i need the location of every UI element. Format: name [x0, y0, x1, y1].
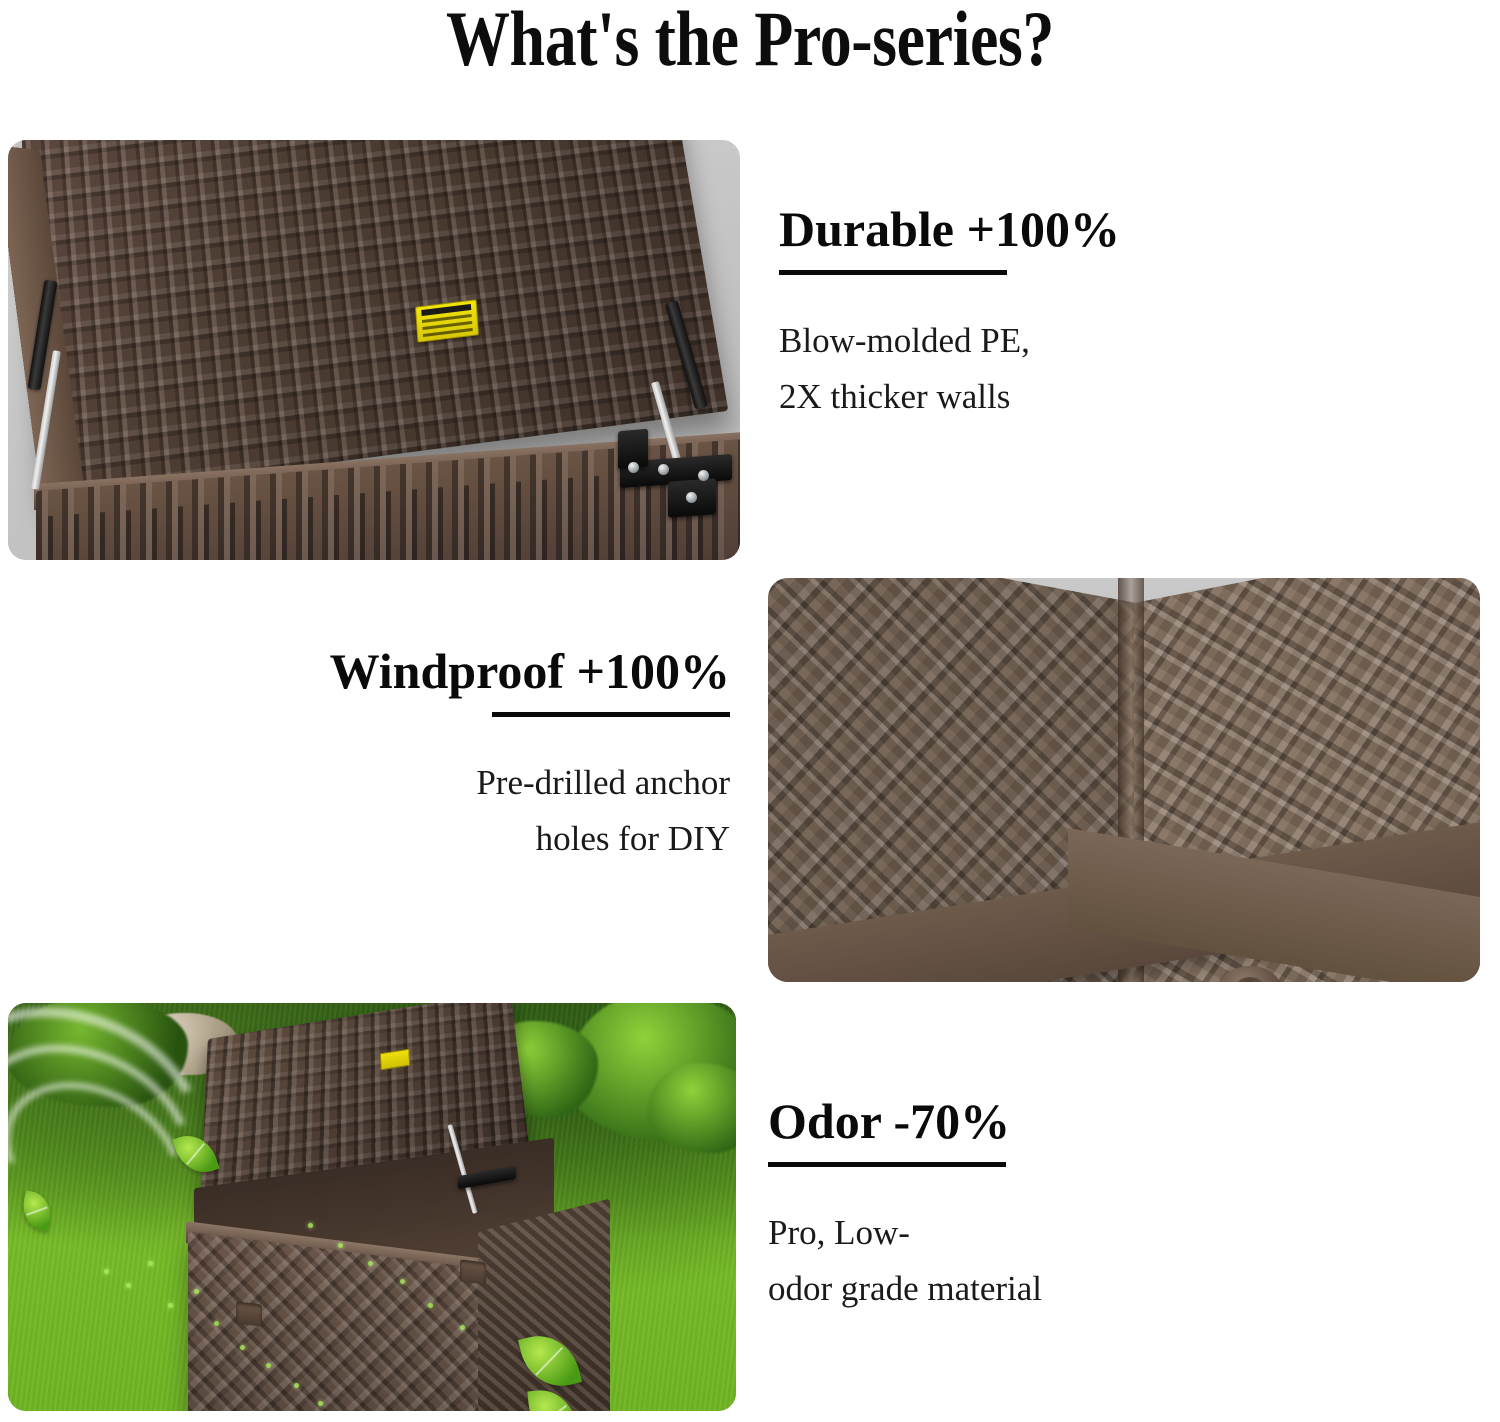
feature-odor-body: Pro, Low- odor grade material [768, 1205, 1288, 1318]
feature-odor-body-line1: Pro, Low- [768, 1205, 1288, 1262]
hinge-bolt [628, 462, 639, 473]
feature-windproof-text: Windproof +100% Pre-drilled anchor holes… [238, 645, 730, 868]
feature-durable-underline [779, 270, 1007, 275]
feature-odor-underline [768, 1162, 1006, 1167]
feature-windproof-underline [492, 712, 730, 717]
feature-durable-body-line2: 2X thicker walls [779, 369, 1299, 426]
open-deck-box-lid-photo [8, 140, 740, 560]
feature-odor-body-line2: odor grade material [768, 1261, 1288, 1318]
side-handle [460, 1259, 486, 1284]
feature-windproof-headline: Windproof +100% [238, 645, 730, 698]
feature-durable-headline: Durable +100% [779, 203, 1299, 256]
hinge-bolt [698, 470, 709, 481]
feature-windproof-body-line2: holes for DIY [238, 811, 730, 868]
feature-durable-body: Blow-molded PE, 2X thicker walls [779, 313, 1299, 426]
feature-odor-text: Odor -70% Pro, Low- odor grade material [768, 1095, 1288, 1318]
page-title: What's the Pro-series? [135, 0, 1365, 84]
wicker-corner-closeup-photo [768, 578, 1480, 982]
feature-windproof-body-line1: Pre-drilled anchor [238, 755, 730, 812]
warning-label-sticker [415, 299, 479, 343]
feature-durable-body-line1: Blow-molded PE, [779, 313, 1299, 370]
side-handle [236, 1301, 262, 1326]
feature-odor-headline: Odor -70% [768, 1095, 1288, 1148]
feature-durable-text: Durable +100% Blow-molded PE, 2X thicker… [779, 203, 1299, 426]
hinge-bolt [686, 492, 697, 503]
feature-windproof-body: Pre-drilled anchor holes for DIY [238, 755, 730, 868]
infographic-page: What's the Pro-series? Durable +100% [0, 0, 1500, 1422]
deck-box-on-lawn-photo [8, 1003, 736, 1411]
hinge-bolt [658, 464, 669, 475]
